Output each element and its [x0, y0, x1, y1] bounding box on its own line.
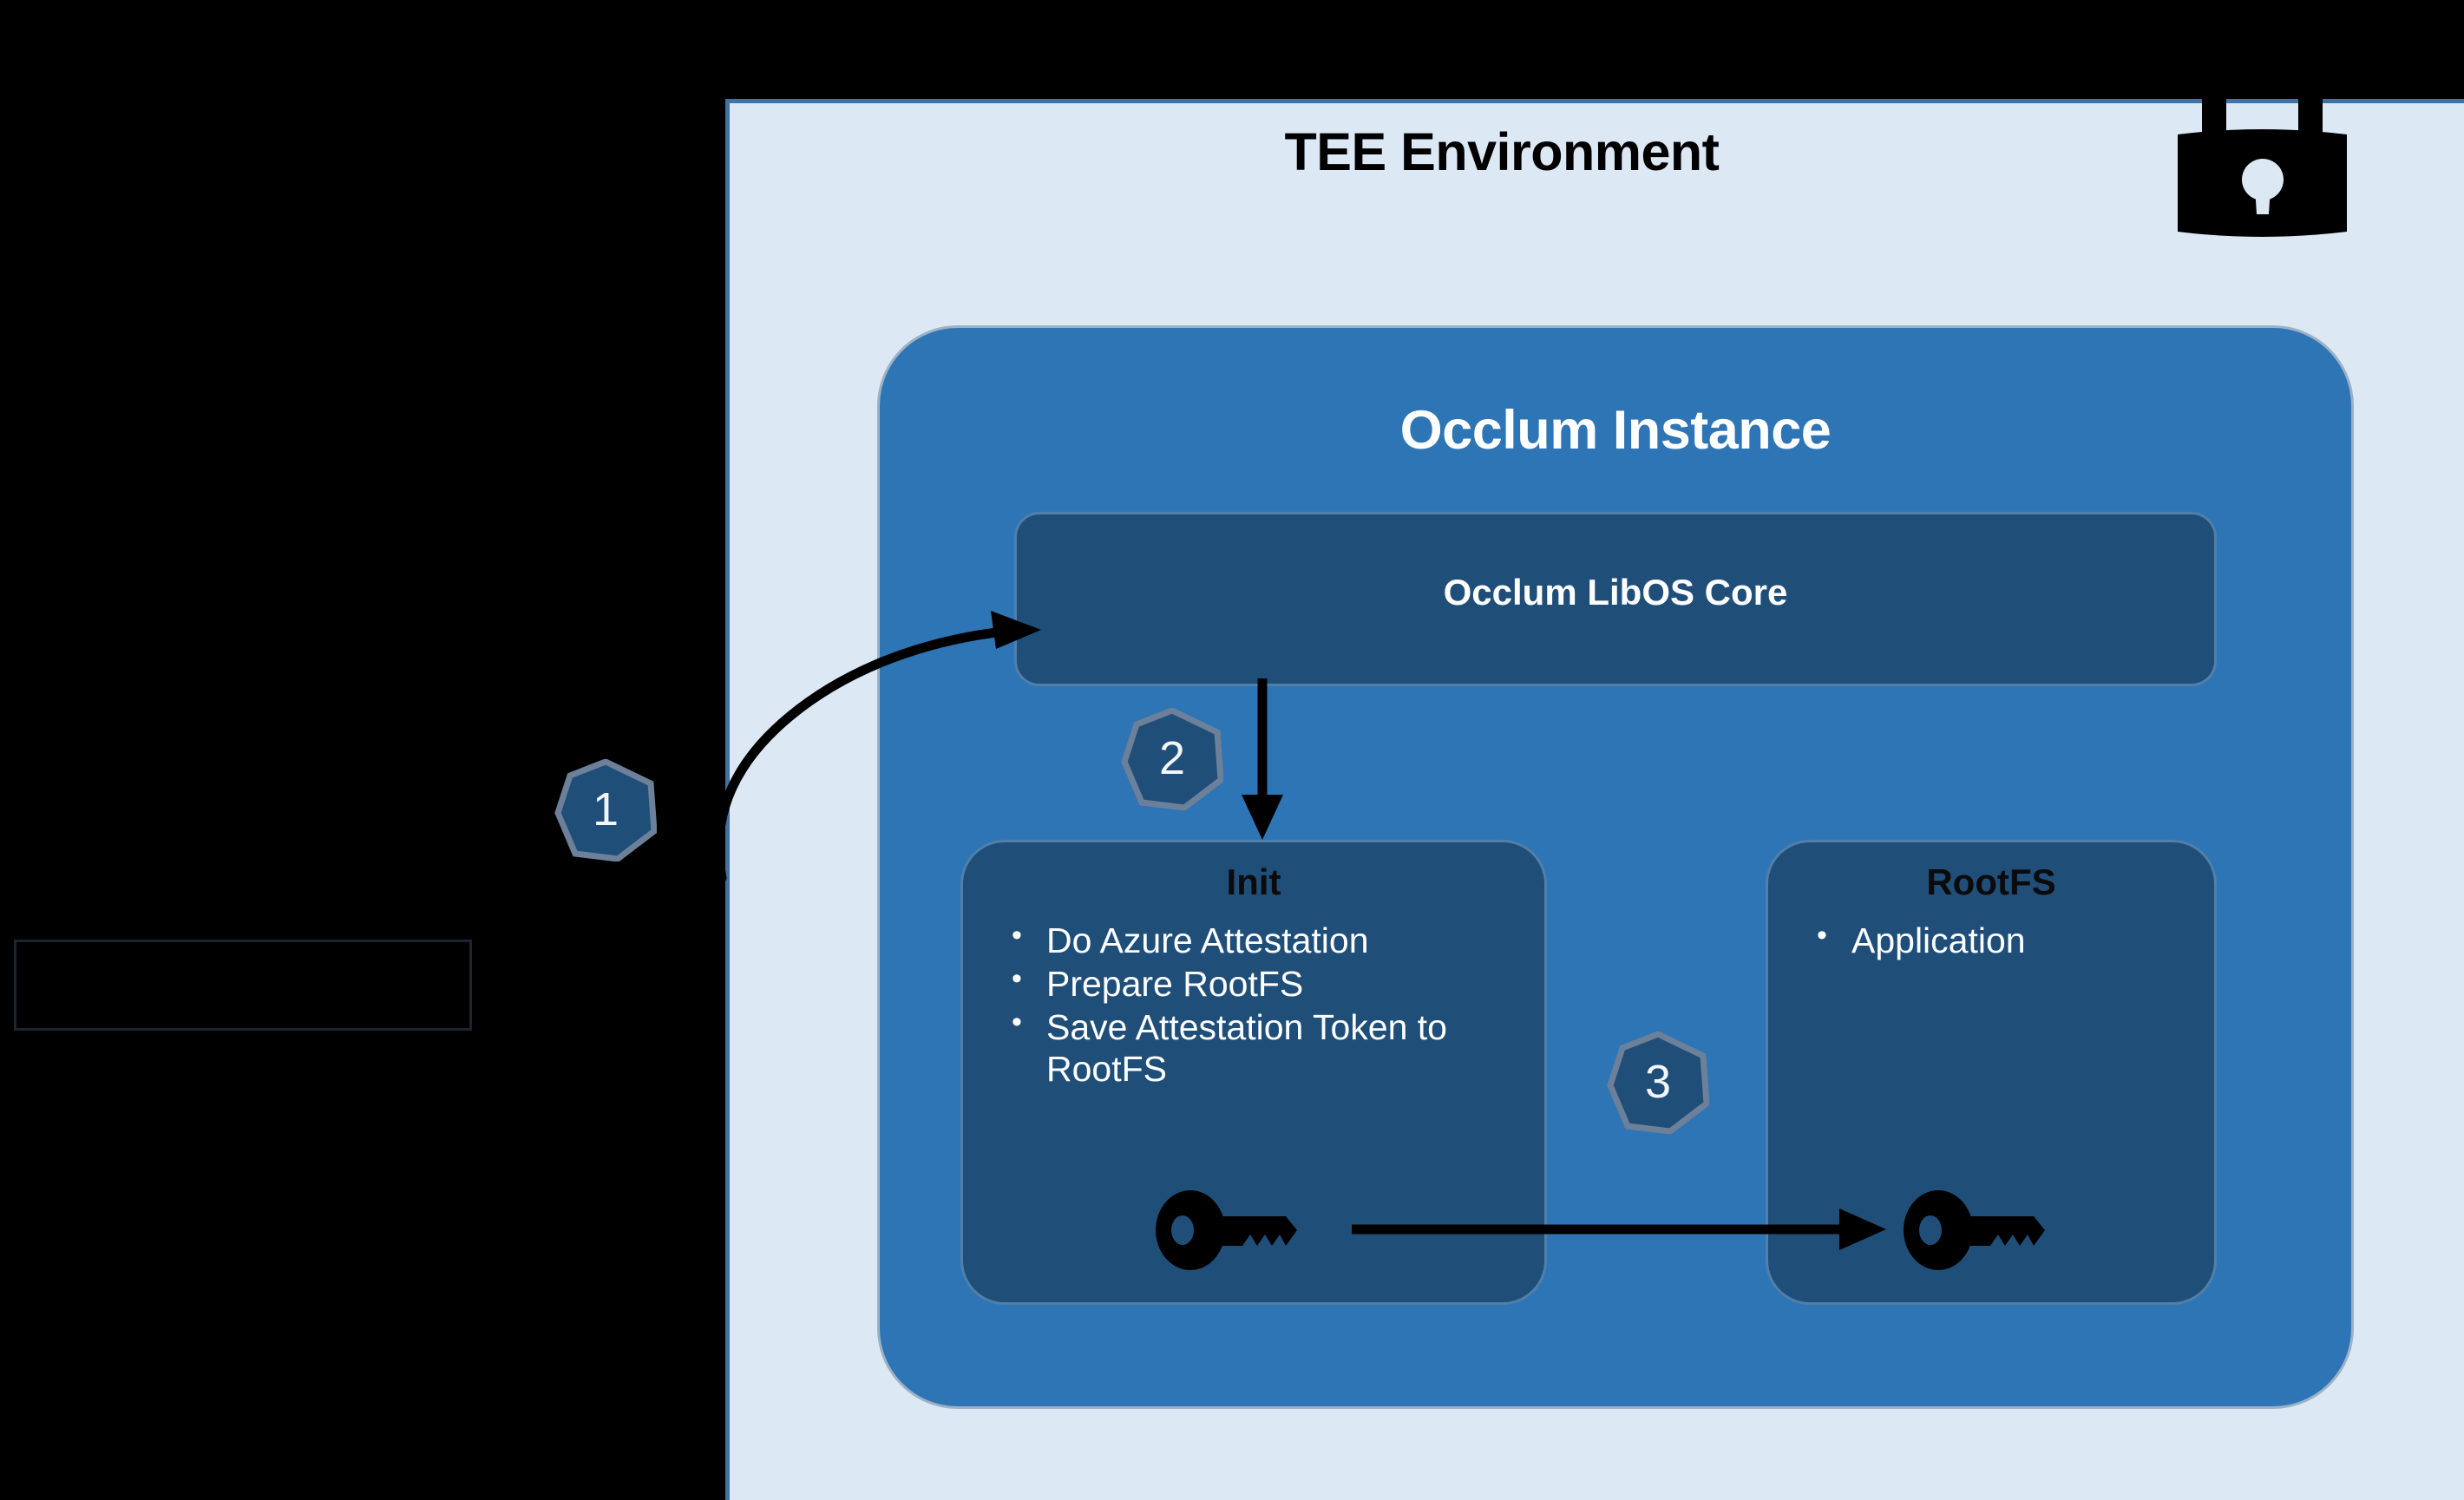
key-icon [1156, 1189, 1305, 1272]
step-badge-3-label: 3 [1607, 1032, 1709, 1134]
step-badge-2: 2 [1121, 708, 1223, 810]
key-icon [1904, 1189, 2053, 1272]
step-badge-1-label: 1 [554, 759, 657, 861]
list-item: Application [1851, 920, 2193, 962]
step-badge-3: 3 [1607, 1032, 1709, 1134]
rootfs-title: RootFS [1768, 861, 2214, 903]
step-badge-1: 1 [554, 759, 657, 861]
rootfs-bullet-list: Application [1806, 920, 2193, 964]
step-3-right-arrow [1352, 1199, 1890, 1260]
init-bullet-list: Do Azure Attestation Prepare RootFS Save… [1001, 920, 1524, 1092]
list-item: Prepare RootFS [1046, 964, 1524, 1005]
occlum-instance-title: Occlum Instance [880, 399, 2351, 462]
occlum-libos-core-label: Occlum LibOS Core [1017, 572, 2214, 613]
padlock-icon [2169, 48, 2356, 247]
step-2-down-arrow [1232, 678, 1293, 843]
list-item: Save Attestation Token to RootFS [1046, 1007, 1524, 1091]
diagram-canvas: TEE Environment Occlum Instance Occlum L… [0, 0, 2464, 1500]
step-badge-2-label: 2 [1121, 708, 1223, 810]
list-item: Do Azure Attestation [1046, 920, 1524, 962]
empty-outline-box [14, 940, 472, 1031]
occlum-libos-core-box: Occlum LibOS Core [1017, 514, 2214, 684]
tee-environment-title: TEE Environment [725, 121, 2278, 182]
init-title: Init [963, 861, 1544, 903]
step-1-curved-arrow [659, 538, 1050, 885]
